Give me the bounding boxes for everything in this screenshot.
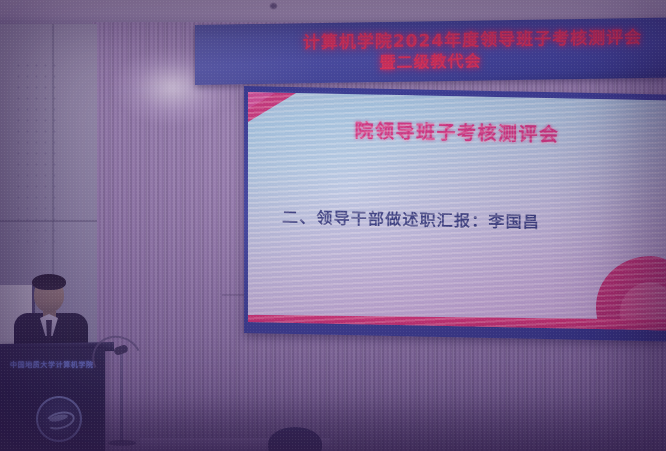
wall-seam [0, 220, 97, 222]
ceiling-fixture-icon [270, 3, 277, 9]
floor-shadow [0, 395, 666, 451]
banner-line-2: 暨二级教代会 [379, 51, 481, 73]
banner-line-1: 计算机学院2024年度领导班子考核测评会 [303, 27, 642, 54]
slide-title: 院领导班子考核测评会 [248, 114, 666, 149]
banner-text-block: 计算机学院2024年度领导班子考核测评会 暨二级教代会 [195, 18, 666, 85]
photo-scene: 计算机学院2024年度领导班子考核测评会 暨二级教代会 院领导班子考核测评会 二… [0, 0, 666, 451]
slide-corner-accent-inner [248, 92, 276, 110]
presenter-hair [32, 274, 66, 290]
stage-banner: 计算机学院2024年度领导班子考核测评会 暨二级教代会 [195, 18, 666, 85]
projection-screen: 院领导班子考核测评会 二、领导干部做述职汇报：李国昌 [248, 92, 666, 330]
slide-body-text: 二、领导干部做述职汇报：李国昌 [282, 204, 662, 236]
